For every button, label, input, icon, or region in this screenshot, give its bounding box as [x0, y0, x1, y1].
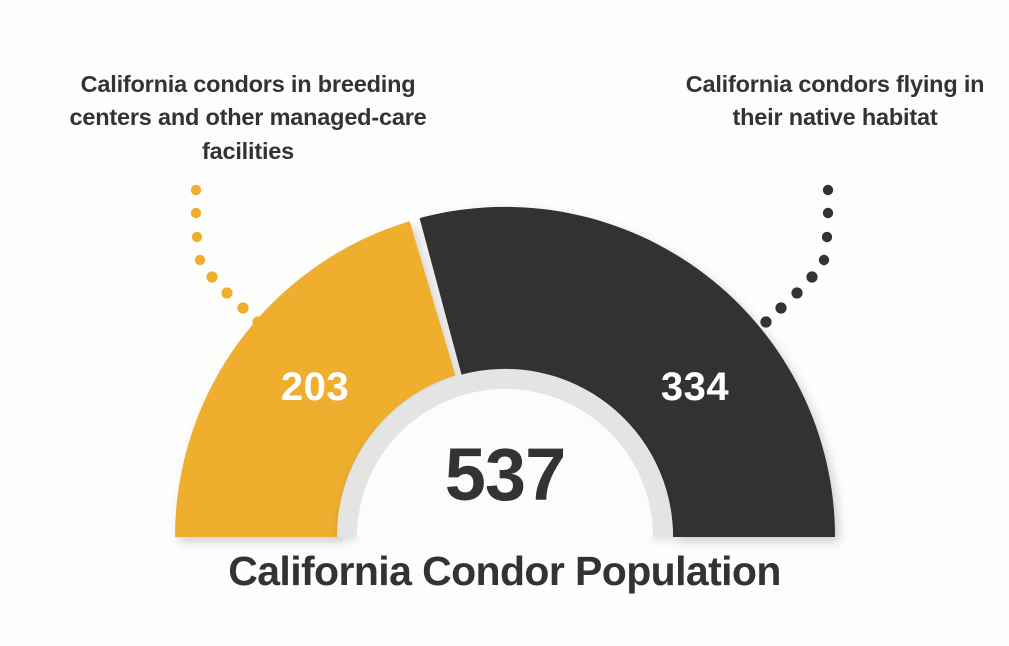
leader-line-right — [760, 185, 833, 328]
slice-value-managed-care: 203 — [245, 365, 385, 410]
leader-line-left — [191, 185, 264, 328]
slice-value-native-habitat: 334 — [625, 365, 765, 410]
center-total-value: 537 — [385, 432, 625, 517]
chart-title: California Condor Population — [0, 548, 1009, 595]
condor-population-infographic: California condors in breeding centers a… — [0, 0, 1009, 646]
